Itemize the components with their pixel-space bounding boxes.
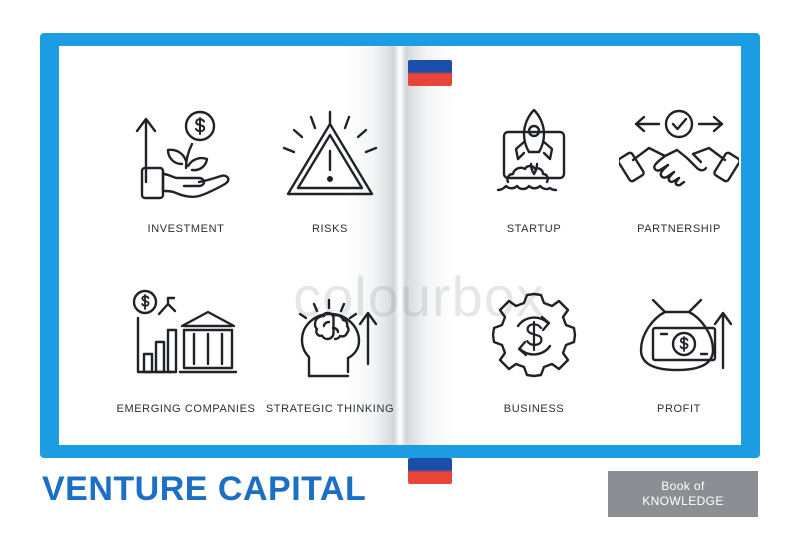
icon-label-investment: INVESTMENT xyxy=(111,223,261,235)
book-pages: colourbox xyxy=(59,46,741,445)
icon-card-investment[interactable]: INVESTMENT xyxy=(111,101,261,235)
hand-holding-plant-coin-icon xyxy=(111,101,261,211)
badge-line-2: KNOWLEDGE xyxy=(642,494,724,509)
icon-card-risks[interactable]: RISKS xyxy=(255,101,405,235)
icon-label-strategic-thinking: STRATEGIC THINKING xyxy=(255,403,405,415)
page-title: VENTURE CAPITAL xyxy=(42,470,366,509)
bank-growth-chart-icon xyxy=(111,281,261,391)
gear-dollar-cycle-icon xyxy=(459,281,609,391)
icon-card-startup[interactable]: STARTUP xyxy=(459,101,609,235)
head-brain-arrow-icon xyxy=(255,281,405,391)
handshake-check-icon xyxy=(604,101,754,211)
icon-label-startup: STARTUP xyxy=(459,223,609,235)
icon-label-emerging-companies: EMERGING COMPANIES xyxy=(111,403,261,415)
icon-card-business[interactable]: BUSINESS xyxy=(459,281,609,415)
rocket-laptop-icon xyxy=(459,101,609,211)
icon-label-profit: PROFIT xyxy=(604,403,754,415)
icon-grid: INVESTMENT xyxy=(59,46,779,471)
icon-label-partnership: PARTNERSHIP xyxy=(604,223,754,235)
icon-label-risks: RISKS xyxy=(255,223,405,235)
icon-card-strategic-thinking[interactable]: STRATEGIC THINKING xyxy=(255,281,405,415)
book-cover: colourbox xyxy=(40,33,760,458)
badge-line-1: Book of xyxy=(661,479,705,494)
icon-card-profit[interactable]: PROFIT xyxy=(604,281,754,415)
icon-label-business: BUSINESS xyxy=(459,403,609,415)
status-badge: Book of KNOWLEDGE xyxy=(608,471,758,517)
money-bag-banknote-icon xyxy=(604,281,754,391)
warning-triangle-icon xyxy=(255,101,405,211)
icon-card-emerging-companies[interactable]: EMERGING COMPANIES xyxy=(111,281,261,415)
book-clasp-bottom xyxy=(408,458,452,484)
icon-card-partnership[interactable]: PARTNERSHIP xyxy=(604,101,754,235)
book-clasp-top xyxy=(408,60,452,86)
poster-canvas: colourbox xyxy=(0,0,800,534)
